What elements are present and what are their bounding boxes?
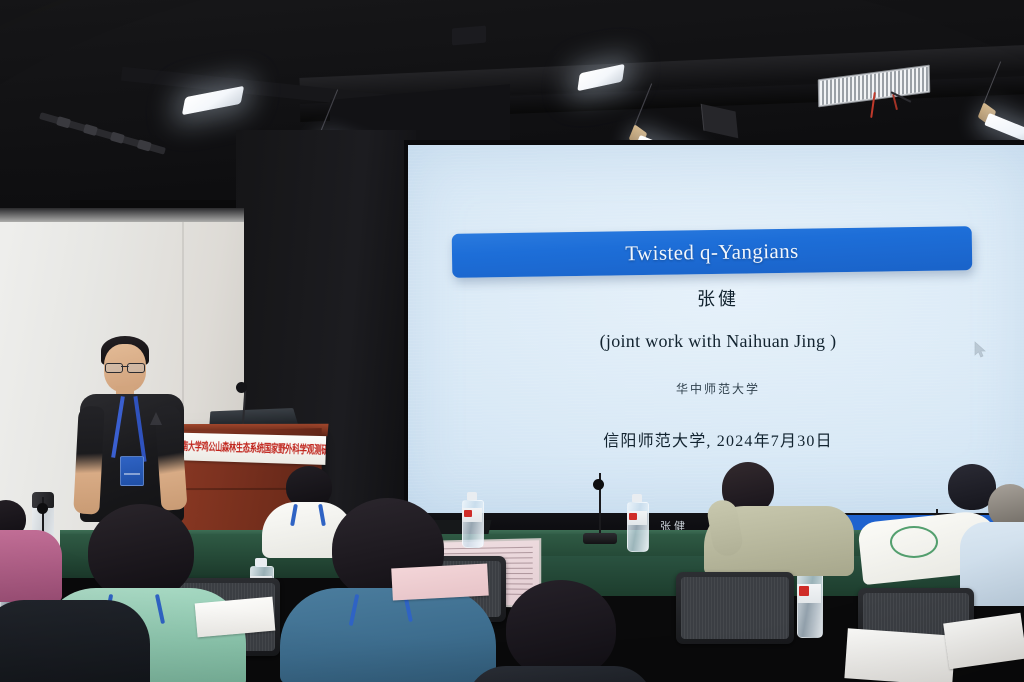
slide-venue-date: 信阳师范大学, 2024年7月30日 (408, 427, 1024, 451)
attendee-body (466, 666, 654, 682)
presenter-name-badge (120, 456, 144, 486)
slide-author: 张健 (408, 285, 1024, 311)
slide-body: 张健 (joint work with Naihuan Jing ) 华中师范大… (408, 285, 1024, 451)
ceiling-speaker-box (452, 26, 486, 46)
attendee-head (506, 580, 616, 678)
attendee-body (0, 600, 150, 682)
paper-sheet-right (844, 628, 955, 682)
paper-sheet-far-right (943, 613, 1024, 669)
attendee-head (88, 504, 194, 600)
water-bottle-2 (627, 494, 647, 550)
presenter-glasses-icon (105, 363, 145, 371)
attendee-shirt-logo (890, 526, 938, 558)
paper-sheet-left (195, 597, 276, 638)
desk-microphone-center (583, 482, 617, 544)
attendee-bottom-center (466, 580, 654, 682)
chair-right-back[interactable] (676, 572, 794, 644)
slide-joint-work: (joint work with Naihuan Jing ) (408, 331, 1024, 352)
attendee-bottom-left (0, 600, 150, 682)
attendee-mid-olive (704, 462, 854, 574)
podium-microphone-head (236, 382, 247, 393)
conference-photo-scene: Twisted q-Yangians 张健 (joint work with N… (0, 0, 1024, 682)
slide-title: Twisted q-Yangians (625, 238, 799, 266)
slide-affiliation: 华中师范大学 (408, 380, 1024, 397)
slide-title-bar: Twisted q-Yangians (452, 226, 973, 278)
paper-sheet-pink (391, 564, 489, 601)
podium-banner-text: 河南大学鸡公山森林生态系统国家野外科学观测研究站 (174, 439, 326, 459)
projection-screen[interactable]: Twisted q-Yangians 张健 (joint work with N… (408, 145, 1024, 515)
attendee-body (280, 588, 496, 682)
